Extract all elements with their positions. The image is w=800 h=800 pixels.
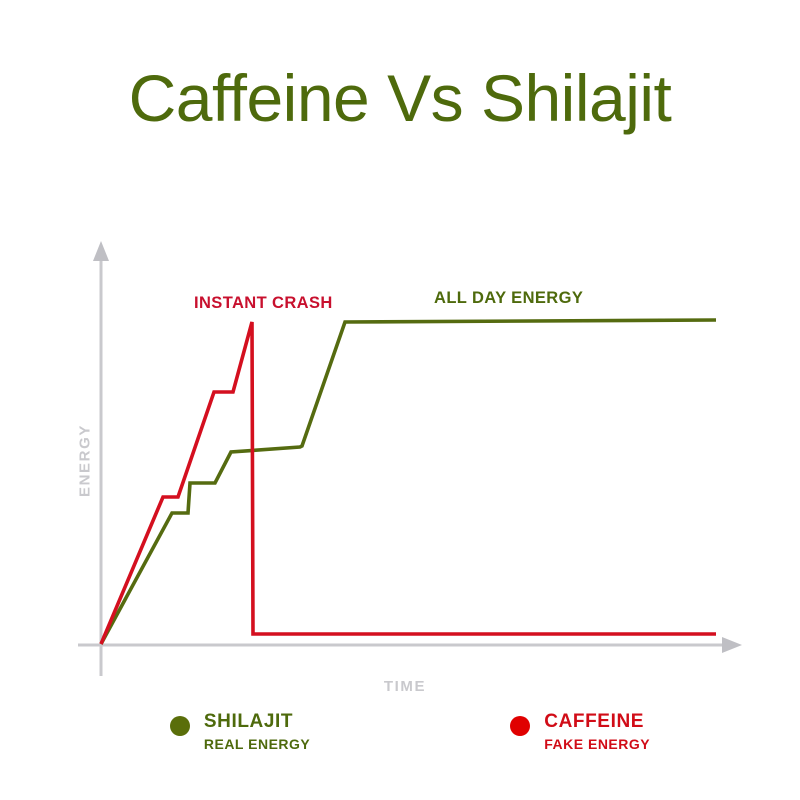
legend-subtitle-shilajit: REAL ENERGY: [204, 737, 310, 751]
legend-item-caffeine[interactable]: CAFFEINE FAKE ENERGY: [510, 712, 650, 751]
legend-red-dot-icon: [510, 716, 530, 736]
chart-legend: SHILAJIT REAL ENERGY CAFFEINE FAKE ENERG…: [100, 712, 720, 751]
series-line-shilajit: [101, 320, 716, 644]
annotation-all-day-energy: ALL DAY ENERGY: [434, 289, 583, 308]
legend-text-caffeine: CAFFEINE FAKE ENERGY: [544, 712, 650, 751]
legend-subtitle-caffeine: FAKE ENERGY: [544, 737, 650, 751]
legend-title-caffeine: CAFFEINE: [544, 712, 650, 731]
legend-item-shilajit[interactable]: SHILAJIT REAL ENERGY: [170, 712, 310, 751]
legend-text-shilajit: SHILAJIT REAL ENERGY: [204, 712, 310, 751]
legend-title-shilajit: SHILAJIT: [204, 712, 310, 731]
x-axis-label: TIME: [355, 678, 455, 695]
x-axis-arrow-icon: [722, 637, 742, 653]
chart-area: INSTANT CRASH ALL DAY ENERGY ENERGY TIME: [0, 0, 800, 800]
legend-green-dot-icon: [170, 716, 190, 736]
infographic-root: Caffeine Vs Shilajit INSTANT CRASH ALL D…: [0, 0, 800, 800]
y-axis-arrow-icon: [93, 241, 109, 261]
annotation-instant-crash: INSTANT CRASH: [194, 294, 333, 313]
y-axis-label: ENERGY: [77, 416, 94, 506]
